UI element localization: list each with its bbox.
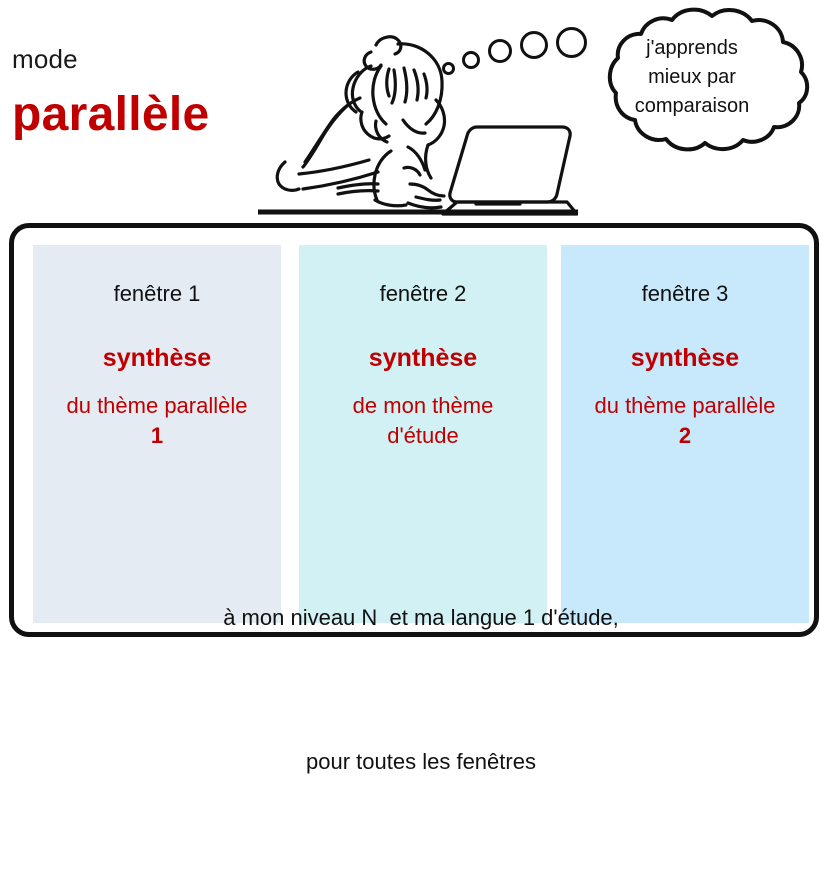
cloud-line-1: j'apprends bbox=[558, 34, 826, 63]
thought-dot-3 bbox=[488, 39, 512, 63]
window-panel-3[interactable]: fenêtre 3 synthèse du thème parallèle 2 bbox=[561, 245, 809, 623]
window-2-synthese: synthèse bbox=[299, 344, 547, 373]
header: mode parallèle bbox=[0, 0, 829, 223]
window-1-title: fenêtre 1 bbox=[33, 281, 281, 307]
window-1-subtitle: du thème parallèle bbox=[33, 391, 281, 421]
mode-label: mode bbox=[12, 44, 78, 75]
thought-dot-4 bbox=[520, 31, 548, 59]
window-3-subtitle: du thème parallèle bbox=[561, 391, 809, 421]
thought-dot-1 bbox=[442, 62, 455, 75]
thought-dot-2 bbox=[462, 51, 480, 69]
window-1-number: 1 bbox=[33, 421, 281, 451]
window-1-synthese: synthèse bbox=[33, 344, 281, 373]
cloud-line-3: comparaison bbox=[558, 92, 826, 121]
window-3-number: 2 bbox=[561, 421, 809, 451]
mode-title: parallèle bbox=[12, 87, 210, 142]
window-panel-2[interactable]: fenêtre 2 synthèse de mon thème d'étude bbox=[299, 245, 547, 623]
thought-cloud-text: j'apprends mieux par comparaison bbox=[558, 34, 826, 121]
caption-line-2: pour toutes les fenêtres bbox=[33, 738, 809, 786]
window-3-title: fenêtre 3 bbox=[561, 281, 809, 307]
cloud-line-2: mieux par bbox=[558, 63, 826, 92]
window-panel-1[interactable]: fenêtre 1 synthèse du thème parallèle 1 bbox=[33, 245, 281, 623]
window-3-synthese: synthèse bbox=[561, 344, 809, 373]
window-2-title: fenêtre 2 bbox=[299, 281, 547, 307]
windows-frame: fenêtre 1 synthèse du thème parallèle 1 … bbox=[9, 223, 819, 637]
window-2-subtitle: de mon thème bbox=[299, 391, 547, 421]
window-2-number: d'étude bbox=[299, 421, 547, 451]
